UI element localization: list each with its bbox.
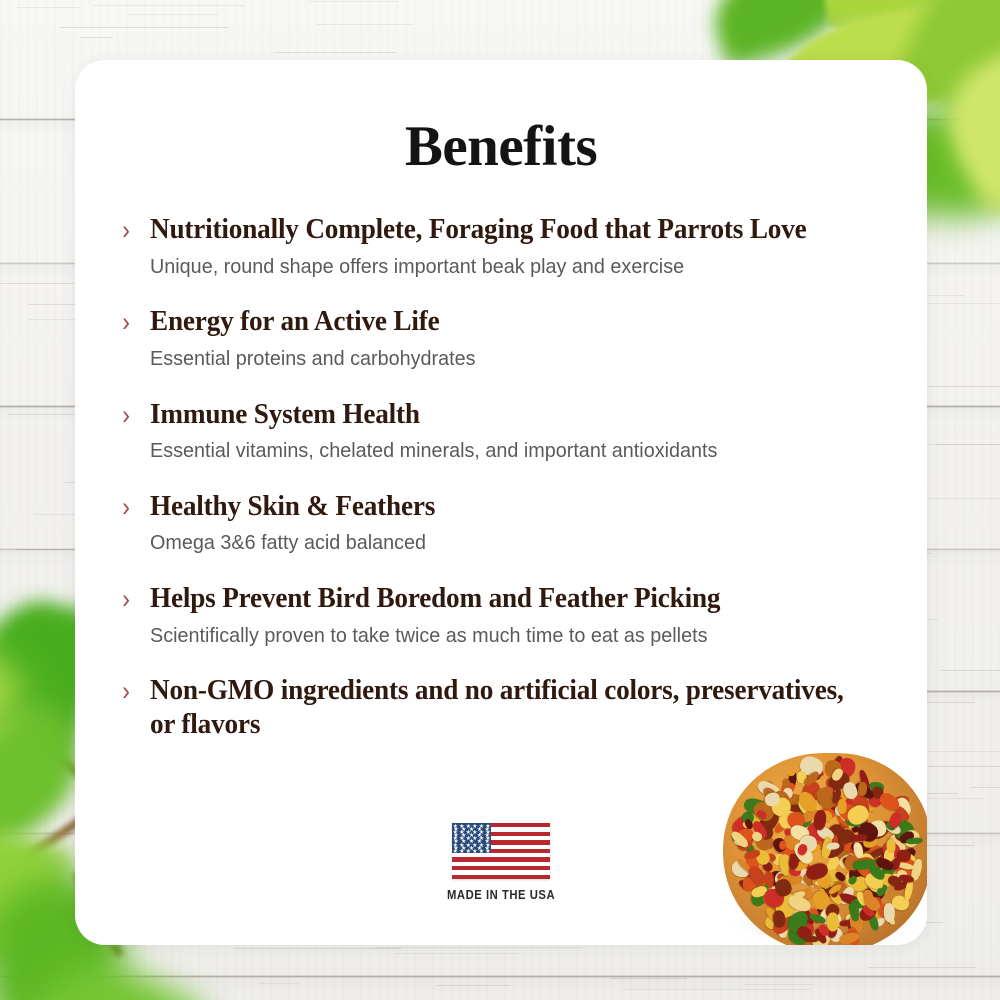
chevron-right-icon: › bbox=[122, 217, 148, 244]
benefit-subtitle: Essential proteins and carbohydrates bbox=[150, 346, 856, 373]
benefit-title: Immune System Health bbox=[150, 398, 849, 432]
wood-grain-line bbox=[259, 983, 299, 984]
wood-grain-line bbox=[309, 1, 398, 2]
benefit-title: Nutritionally Complete, Foraging Food th… bbox=[150, 213, 849, 247]
wood-grain-line bbox=[317, 24, 414, 25]
page-title: Benefits bbox=[115, 114, 887, 179]
product-food-ball-image bbox=[723, 753, 927, 945]
benefit-title: Helps Prevent Bird Boredom and Feather P… bbox=[150, 582, 849, 616]
food-kernel bbox=[838, 798, 847, 813]
benefit-text-group: Helps Prevent Bird Boredom and Feather P… bbox=[150, 582, 882, 649]
wood-grain-line bbox=[941, 670, 1000, 671]
food-kernel bbox=[905, 837, 922, 844]
food-kernel bbox=[804, 935, 819, 942]
flag-star-icon: ★ bbox=[472, 849, 477, 855]
wood-grain-line bbox=[127, 14, 218, 15]
benefit-title: Healthy Skin & Feathers bbox=[150, 490, 849, 524]
chevron-right-icon: › bbox=[122, 309, 148, 336]
flag-canton: ★★★★★★★★★★★★★★★★★★★★★★★★★★★★★★★★★★★★★★★★… bbox=[452, 823, 491, 853]
benefit-text-group: Non-GMO ingredients and no artificial co… bbox=[150, 674, 882, 741]
flag-star-icon: ★ bbox=[459, 849, 464, 855]
benefit-text-group: Healthy Skin & FeathersOmega 3&6 fatty a… bbox=[150, 490, 882, 557]
benefit-item: ›Immune System HealthEssential vitamins,… bbox=[120, 398, 882, 465]
benefit-text-group: Immune System HealthEssential vitamins, … bbox=[150, 398, 882, 465]
flag-star-icon: ★ bbox=[466, 849, 471, 855]
wood-grain-line bbox=[235, 948, 402, 949]
benefit-subtitle: Essential vitamins, chelated minerals, a… bbox=[150, 438, 856, 465]
benefit-item: ›Non-GMO ingredients and no artificial c… bbox=[120, 674, 882, 741]
wood-grain-line bbox=[273, 52, 395, 53]
wood-grain-line bbox=[622, 989, 809, 990]
food-kernel bbox=[883, 903, 895, 922]
benefit-text-group: Energy for an Active LifeEssential prote… bbox=[150, 305, 882, 372]
chevron-right-icon: › bbox=[122, 586, 148, 613]
wood-grain-line bbox=[745, 984, 814, 985]
chevron-right-icon: › bbox=[122, 494, 148, 521]
benefits-list: ›Nutritionally Complete, Foraging Food t… bbox=[115, 213, 887, 742]
flag-star-icon: ★ bbox=[485, 849, 490, 855]
wood-grain-line bbox=[17, 7, 81, 8]
wood-grain-line bbox=[868, 967, 976, 968]
wood-grain-line bbox=[374, 947, 583, 948]
benefit-title: Energy for an Active Life bbox=[150, 305, 849, 339]
chevron-right-icon: › bbox=[122, 402, 148, 429]
benefit-title: Non-GMO ingredients and no artificial co… bbox=[150, 674, 849, 741]
usa-flag-icon: ★★★★★★★★★★★★★★★★★★★★★★★★★★★★★★★★★★★★★★★★… bbox=[452, 823, 550, 879]
benefit-text-group: Nutritionally Complete, Foraging Food th… bbox=[150, 213, 882, 280]
benefit-item: ›Energy for an Active LifeEssential prot… bbox=[120, 305, 882, 372]
benefits-card: Benefits ›Nutritionally Complete, Foragi… bbox=[75, 60, 927, 945]
flag-stripe bbox=[452, 875, 550, 879]
benefit-subtitle: Omega 3&6 fatty acid balanced bbox=[150, 530, 856, 557]
benefit-item: ›Nutritionally Complete, Foraging Food t… bbox=[120, 213, 882, 280]
wood-grain-line bbox=[436, 985, 510, 986]
food-kernel bbox=[886, 839, 895, 854]
chevron-right-icon: › bbox=[122, 678, 148, 705]
flag-star-row: ★★★★★★ bbox=[452, 849, 491, 855]
benefit-item: ›Healthy Skin & FeathersOmega 3&6 fatty … bbox=[120, 490, 882, 557]
benefit-item: ›Helps Prevent Bird Boredom and Feather … bbox=[120, 582, 882, 649]
wood-grain-line bbox=[59, 27, 229, 28]
wood-grain-line bbox=[971, 787, 1000, 788]
benefit-subtitle: Scientifically proven to take twice as m… bbox=[150, 623, 856, 650]
made-in-usa-label: MADE IN THE USA bbox=[447, 888, 555, 902]
benefit-subtitle: Unique, round shape offers important bea… bbox=[150, 254, 856, 281]
wood-grain-line bbox=[610, 978, 687, 979]
wood-grain-line bbox=[395, 953, 520, 954]
flag-star-icon: ★ bbox=[479, 849, 484, 855]
flag-star-icon: ★ bbox=[453, 849, 458, 855]
wood-grain-line bbox=[93, 5, 244, 6]
wood-grain-line bbox=[80, 37, 113, 38]
